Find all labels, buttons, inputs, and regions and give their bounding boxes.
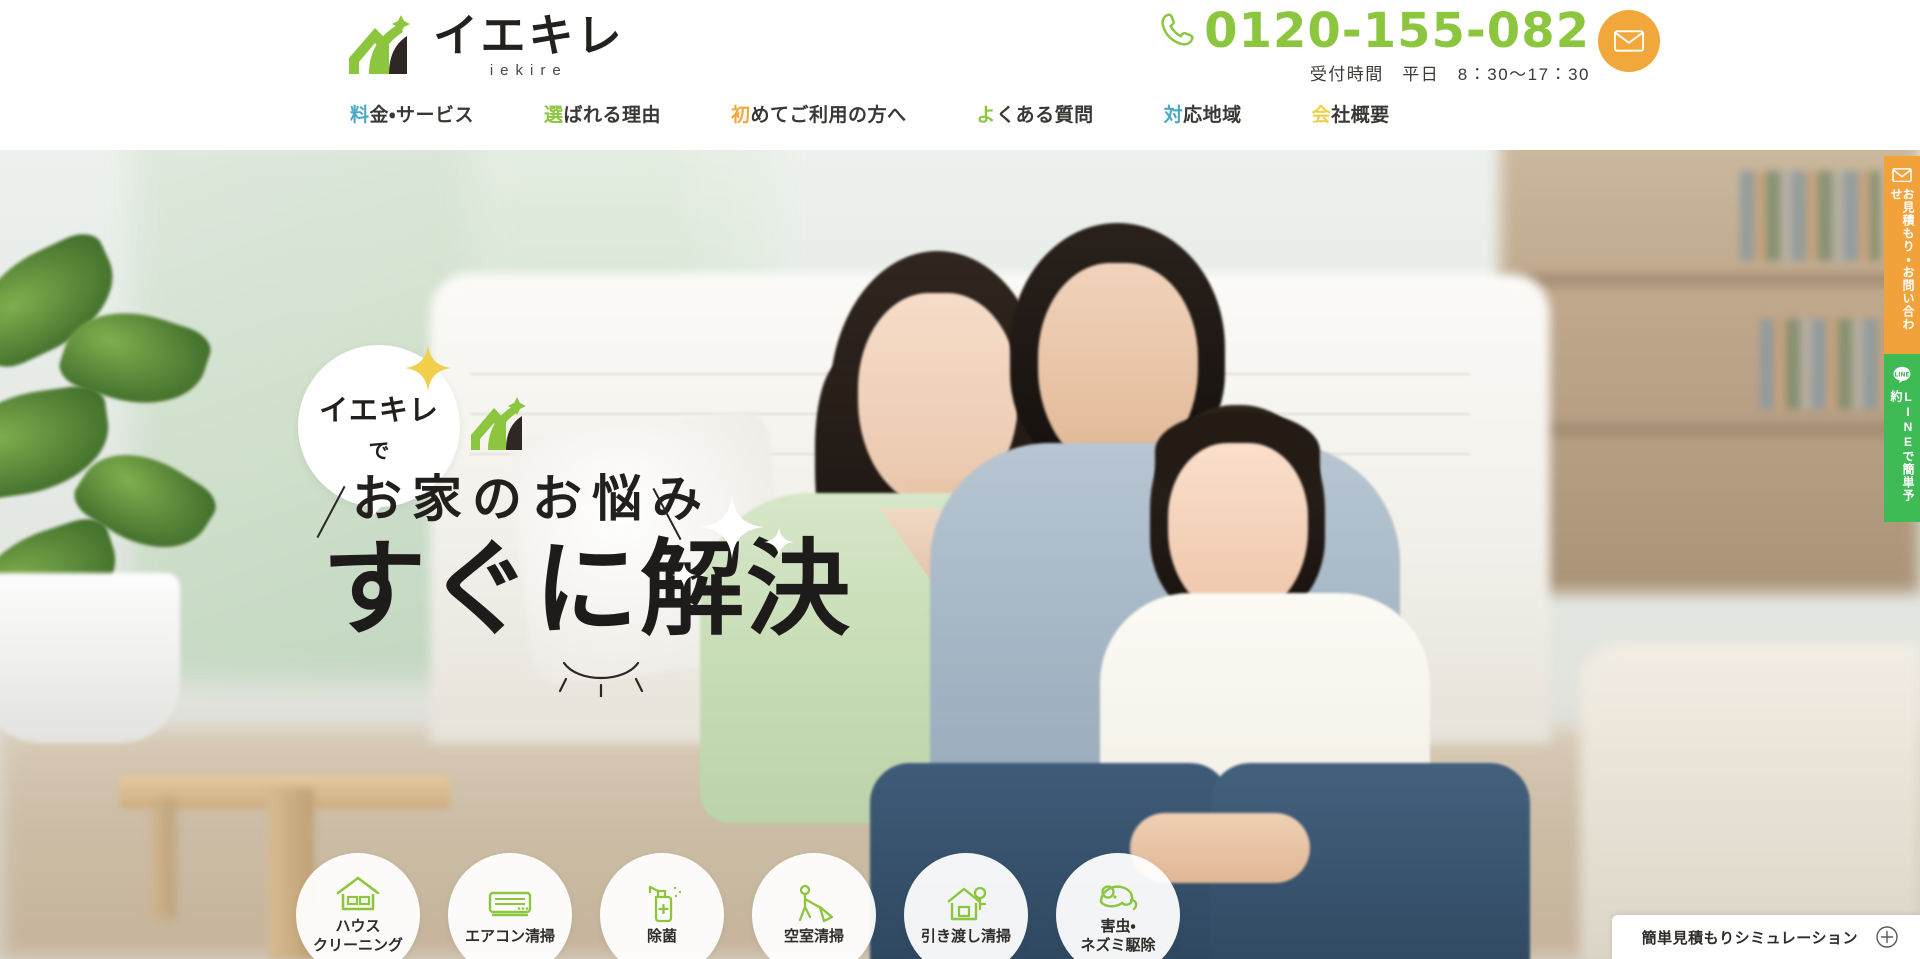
hero-copy: イエキレ で お家のお悩み すぐに解決	[0, 123, 1920, 959]
line-chat-icon: LINE	[1892, 366, 1912, 384]
nav-first-time-rest: めてご利用の方へ	[751, 105, 907, 126]
brand-text-block: イエキレ iekire	[433, 13, 625, 78]
side-tab-line[interactable]: LINE LINEで簡単予約	[1884, 354, 1920, 522]
site-header: イエキレ iekire 0120-155-082 受付時間 平日 8：30〜17…	[0, 0, 1920, 150]
phone-number[interactable]: 0120-155-082	[1204, 6, 1590, 56]
nav-item-pricing[interactable]: 料金・サービス	[350, 100, 474, 127]
hero-section: イエキレ で お家のお悩み すぐに解決	[0, 123, 1920, 959]
nav-areas-first: 対	[1164, 105, 1184, 126]
brand-name: イエキレ	[433, 13, 625, 58]
nav-reasons-first: 選	[544, 105, 564, 126]
phone-handset-icon	[1158, 10, 1196, 53]
four-point-sparkle-icon	[405, 345, 451, 391]
mop-person-icon	[791, 884, 837, 924]
nav-company-rest: 社概要	[1331, 105, 1390, 126]
nav-areas-rest: 応地域	[1183, 105, 1242, 126]
sparkle-decoration-tiny-icon	[672, 563, 696, 587]
service-circle-list: ハウス クリーニング エアコン清掃	[296, 853, 1180, 959]
mouse-pest-icon	[1095, 874, 1141, 914]
page-root: イエキレ iekire 0120-155-082 受付時間 平日 8：30〜17…	[0, 0, 1920, 959]
spray-bottle-icon	[639, 884, 685, 924]
sparkle-decoration-large-icon	[700, 495, 764, 559]
header-top-row: イエキレ iekire 0120-155-082 受付時間 平日 8：30〜17…	[0, 0, 1920, 100]
nav-pricing-rest: 金・サービス	[370, 105, 474, 126]
house-key-icon	[943, 884, 989, 924]
house-swoosh-logo-icon	[345, 12, 423, 78]
service-vacant-room-cleaning[interactable]: 空室清掃	[752, 853, 876, 959]
bottom-bar-label: 簡単見積もりシミュレーション	[1642, 927, 1858, 948]
nav-item-reasons[interactable]: 選ばれる理由	[544, 100, 661, 127]
service-label: 除菌	[647, 928, 677, 947]
nav-item-first-time[interactable]: 初めてご利用の方へ	[731, 100, 907, 127]
header-contact-block: 0120-155-082 受付時間 平日 8：30〜17：30	[1158, 6, 1590, 85]
main-navigation: 料金・サービス 選ばれる理由 初めてご利用の方へ よくある質問 対応地域 会社概…	[0, 100, 1920, 150]
plus-circle-icon[interactable]	[1876, 926, 1898, 948]
house-swoosh-logo-small-icon	[468, 395, 534, 453]
envelope-icon	[1892, 168, 1912, 182]
side-tab-estimate[interactable]: お見積もり・お問い合わせ	[1884, 156, 1920, 354]
air-conditioner-icon	[487, 884, 533, 924]
service-label: ハウス クリーニング	[313, 918, 403, 956]
bottom-simulation-bar[interactable]: 簡単見積もりシミュレーション	[1612, 915, 1920, 959]
service-label: 害虫・ ネズミ駆除	[1080, 918, 1155, 956]
nav-faq-first: よ	[977, 105, 997, 126]
service-house-cleaning[interactable]: ハウス クリーニング	[296, 853, 420, 959]
smile-arc-decoration	[556, 657, 646, 697]
service-label: 引き渡し清掃	[921, 928, 1011, 947]
nav-item-company[interactable]: 会社概要	[1312, 100, 1390, 127]
service-aircon-cleaning[interactable]: エアコン清掃	[448, 853, 572, 959]
brand-subtitle: iekire	[433, 63, 625, 78]
service-handover-cleaning[interactable]: 引き渡し清掃	[904, 853, 1028, 959]
nav-reasons-rest: ばれる理由	[564, 105, 662, 126]
bubble-line-1: イエキレ	[319, 387, 439, 429]
service-sanitizing[interactable]: 除菌	[600, 853, 724, 959]
side-tab-group: お見積もり・お問い合わせ LINE LINEで簡単予約	[1884, 156, 1920, 522]
nav-first-time-first: 初	[731, 105, 751, 126]
telephone-row[interactable]: 0120-155-082	[1158, 6, 1590, 56]
side-tab-estimate-label: お見積もり・お問い合わせ	[1890, 188, 1914, 338]
nav-pricing-first: 料	[350, 105, 370, 126]
svg-text:LINE: LINE	[1895, 373, 1910, 379]
sparkle-decoration-small-icon	[764, 527, 794, 557]
brand-logo[interactable]: イエキレ iekire	[345, 12, 625, 78]
nav-faq-rest: くある質問	[996, 105, 1094, 126]
nav-item-faq[interactable]: よくある質問	[977, 100, 1094, 127]
nav-company-first: 会	[1312, 105, 1332, 126]
nav-item-areas[interactable]: 対応地域	[1164, 100, 1242, 127]
service-label: エアコン清掃	[465, 928, 555, 947]
service-label: 空室清掃	[784, 928, 844, 947]
side-tab-line-label: LINEで簡単予約	[1890, 390, 1914, 506]
envelope-icon	[1614, 30, 1644, 52]
house-window-icon	[335, 874, 381, 914]
business-hours: 受付時間 平日 8：30〜17：30	[1158, 60, 1590, 85]
header-mail-button[interactable]	[1598, 10, 1660, 72]
service-pest-control[interactable]: 害虫・ ネズミ駆除	[1056, 853, 1180, 959]
